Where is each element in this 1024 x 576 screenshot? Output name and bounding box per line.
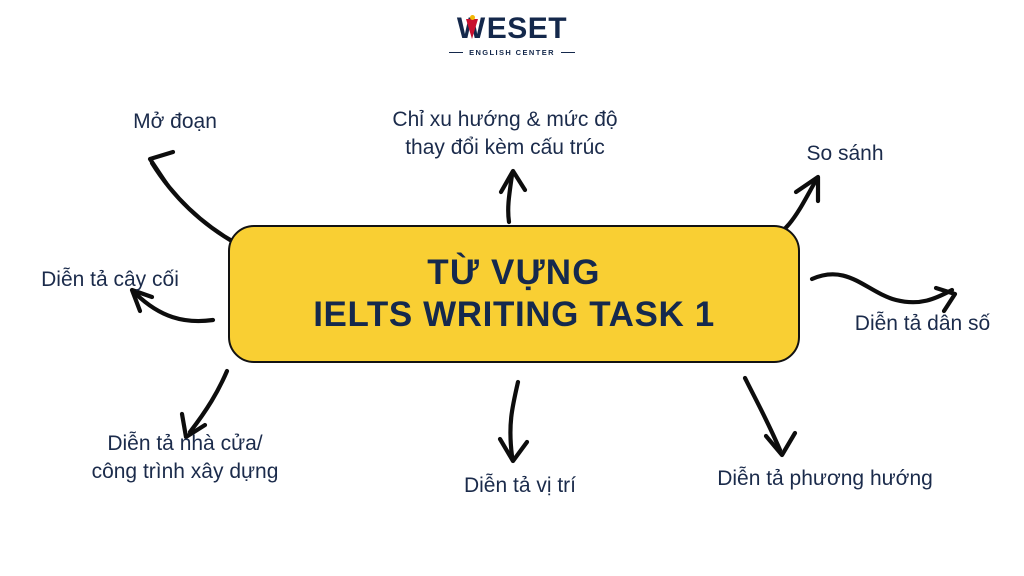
branch-label-dan-so: Diễn tả dân số: [830, 310, 1015, 338]
branch-label-mo-doan: Mở đoạn: [100, 108, 250, 136]
arrow-to-cay-coi: [132, 290, 213, 321]
central-topic-box: TỪ VỰNG IELTS WRITING TASK 1: [228, 225, 800, 363]
arrow-to-vi-tri: [500, 382, 527, 461]
arrow-to-phuong-huong: [745, 378, 795, 455]
logo-tagline: ENGLISH CENTER: [469, 49, 555, 57]
arrow-to-mo-doan: [150, 152, 237, 244]
logo-rule-left-icon: [449, 52, 463, 53]
arrow-to-dan-so: [812, 274, 955, 311]
logo-red-wedge-icon: [466, 19, 478, 39]
logo-letters-eset: ESET: [487, 14, 567, 44]
branch-label-so-sanh: So sánh: [780, 140, 910, 168]
central-topic-line-2: IELTS WRITING TASK 1: [313, 295, 715, 335]
arrow-to-nha-cua: [182, 371, 227, 437]
branch-label-cay-coi: Diễn tả cây cối: [10, 266, 210, 294]
logo-wordmark: W ESET: [457, 14, 567, 44]
central-topic-line-1: TỪ VỰNG: [427, 253, 600, 293]
logo-rule-right-icon: [561, 52, 575, 53]
branch-label-phuong-huong: Diễn tả phương hướng: [685, 465, 965, 493]
branch-label-vi-tri: Diễn tả vị trí: [430, 472, 610, 500]
arrow-to-xu-huong: [501, 171, 525, 222]
branch-label-nha-cua: Diễn tả nhà cửa/ công trình xây dựng: [45, 430, 325, 485]
logo-tagline-row: ENGLISH CENTER: [449, 49, 575, 57]
mindmap-canvas: W ESET ENGLISH CENTER: [0, 0, 1024, 576]
weset-logo: W ESET ENGLISH CENTER: [0, 14, 1024, 57]
branch-label-xu-huong: Chỉ xu hướng & mức độ thay đổi kèm cấu t…: [355, 106, 655, 161]
logo-yellow-dot-icon: [470, 15, 475, 20]
logo-letter-w: W: [457, 14, 487, 44]
